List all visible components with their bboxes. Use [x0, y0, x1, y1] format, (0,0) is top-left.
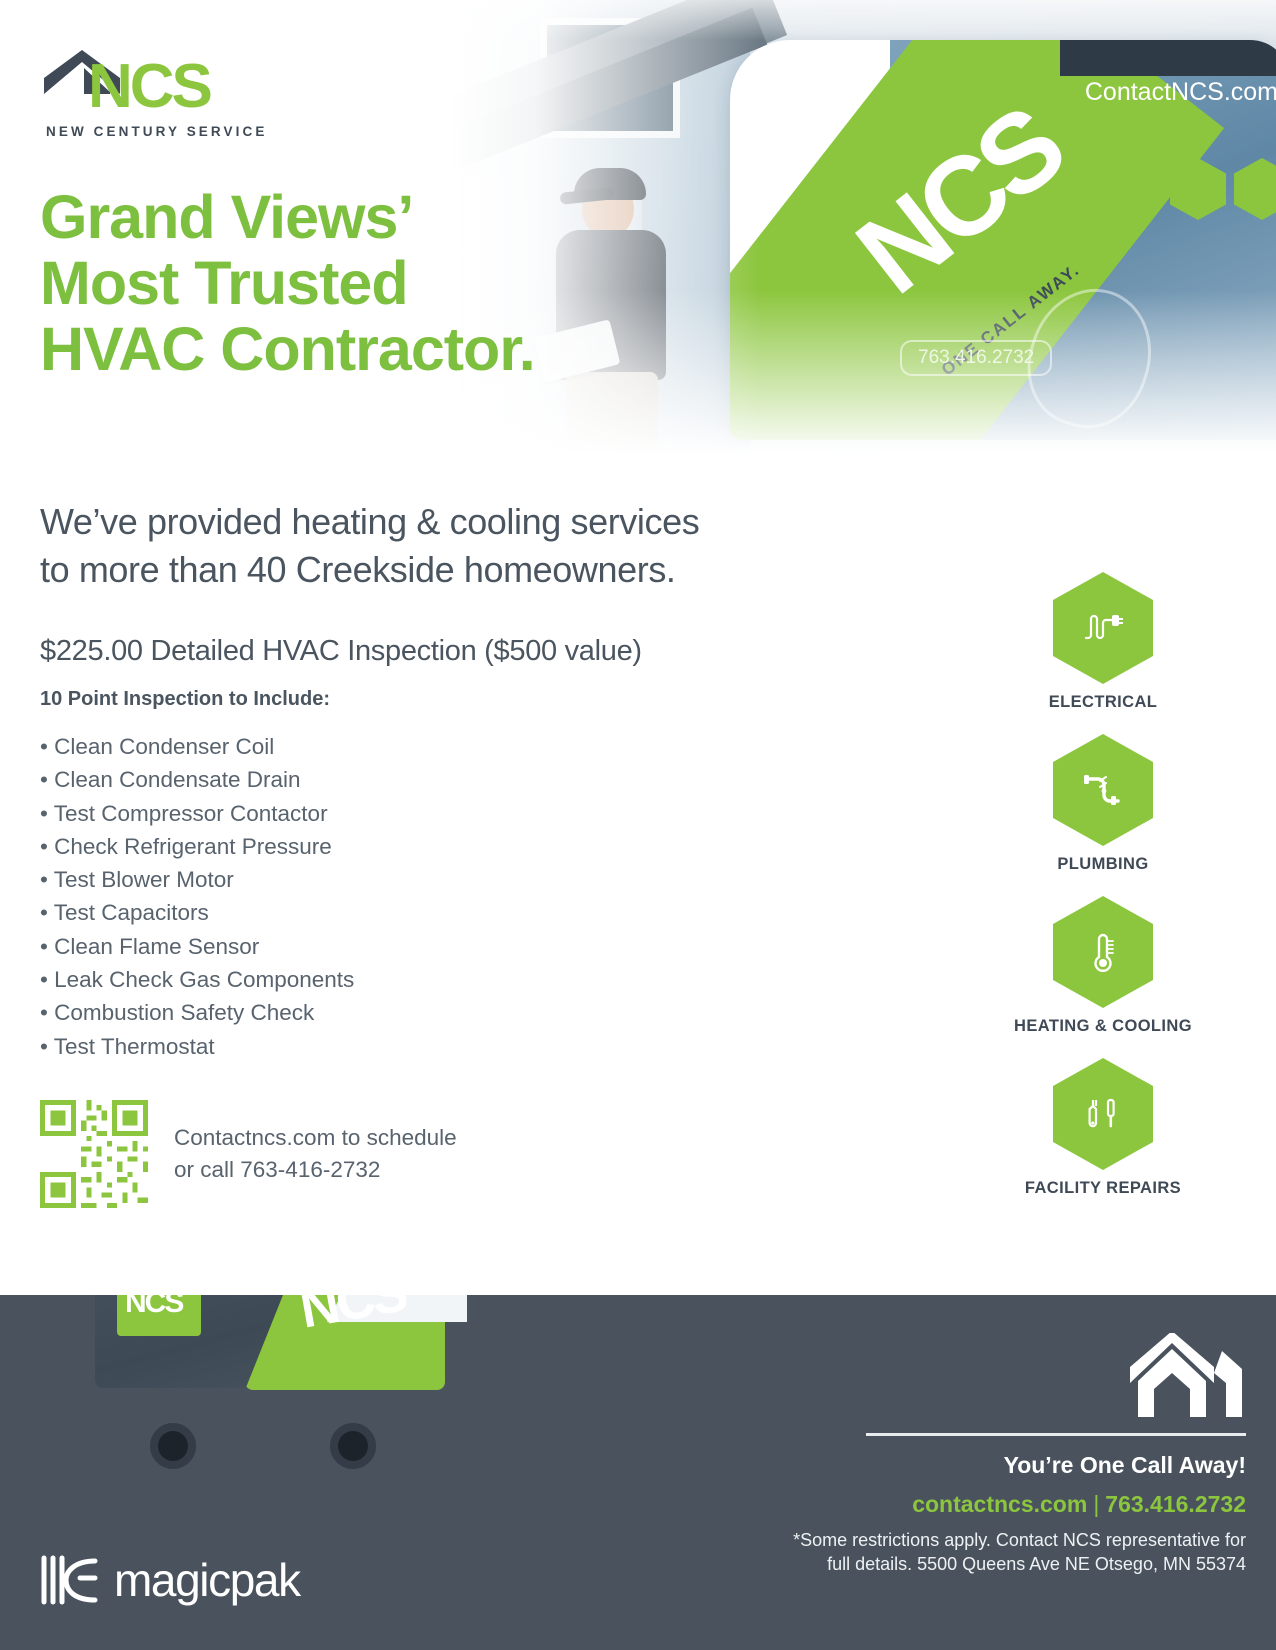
magicpak-wordmark: magicpak: [114, 1553, 300, 1607]
footer-divider: [866, 1433, 1246, 1436]
list-item: • Clean Condensate Drain: [40, 763, 560, 796]
disclaimer-line-2: full details. 5500 Queens Ave NE Otsego,…: [646, 1552, 1246, 1576]
magicpak-logo: magicpak: [38, 1552, 300, 1608]
list-item: • Test Thermostat: [40, 1030, 560, 1063]
headline-line-2: Most Trusted: [40, 251, 740, 317]
list-item: • Test Compressor Contactor: [40, 797, 560, 830]
headline-line-1: Grand Views’: [40, 185, 740, 251]
cta-block: Contactncs.com to schedule or call 763-4…: [40, 1100, 457, 1208]
list-item: • Clean Condenser Coil: [40, 730, 560, 763]
qr-code[interactable]: [40, 1100, 148, 1208]
page-footer: NCS NCS magicpak You’re One Call Away! c…: [0, 1295, 1276, 1650]
van-heating-hex: [1234, 158, 1276, 220]
ncs-logo: NCS NEW CENTURY SERVICE: [40, 48, 270, 139]
heating-cooling-hexagon: [1053, 896, 1153, 1008]
footer-van-wheel: [330, 1423, 376, 1469]
list-item: • Clean Flame Sensor: [40, 930, 560, 963]
page-headline: Grand Views’ Most Trusted HVAC Contracto…: [40, 185, 740, 383]
electrical-hexagon: [1053, 572, 1153, 684]
list-item: • Leak Check Gas Components: [40, 963, 560, 996]
footer-tagline: You’re One Call Away!: [646, 1452, 1246, 1479]
van-plumbing-hex: PLUMBING: [1170, 158, 1226, 220]
logo-wordmark: NCS: [88, 56, 210, 118]
inspection-list-title: 10 Point Inspection to Include:: [40, 688, 330, 711]
van-website: ContactNCS.com: [1085, 78, 1276, 107]
footer-contact-line: contactncs.com|763.416.2732: [646, 1491, 1246, 1518]
footer-van-wheel: [150, 1423, 196, 1469]
plumbing-hexagon: [1053, 734, 1153, 846]
service-electrical: ELECTRICAL: [988, 572, 1218, 712]
thermometer-icon: [1078, 927, 1128, 977]
magicpak-mark-icon: [38, 1552, 100, 1608]
list-item: • Check Refrigerant Pressure: [40, 830, 560, 863]
offer-headline: $225.00 Detailed HVAC Inspection ($500 v…: [40, 635, 642, 668]
service-plumbing: PLUMBING: [988, 734, 1218, 874]
list-item: • Test Capacitors: [40, 896, 560, 929]
van-electrical-hex: ELECTRICAL: [1106, 158, 1162, 220]
plug-cord-icon: [1078, 603, 1128, 653]
footer-website-link[interactable]: contactncs.com: [912, 1491, 1087, 1517]
subhead-line-1: We’ve provided heating & cooling service…: [40, 498, 930, 546]
van-service-icons: ELECTRICAL PLUMBING: [1106, 158, 1276, 220]
headline-line-3: HVAC Contractor.: [40, 317, 740, 383]
service-facility-repairs: FACILITY REPAIRS: [988, 1058, 1218, 1198]
van-roof-rack: [1060, 40, 1276, 76]
list-item: • Test Blower Motor: [40, 863, 560, 896]
list-item: • Combustion Safety Check: [40, 996, 560, 1029]
cta-text: Contactncs.com to schedule or call 763-4…: [174, 1122, 457, 1186]
service-icons-column: ELECTRICAL PLUMBING HEATING & COOLING: [988, 572, 1218, 1220]
wrench-screwdriver-icon: [1078, 1089, 1128, 1139]
cta-line-2: or call 763-416-2732: [174, 1154, 457, 1186]
subhead-line-2: to more than 40 Creekside homeowners.: [40, 546, 930, 594]
footer-contact-block: You’re One Call Away! contactncs.com|763…: [646, 1333, 1246, 1577]
inspection-list: • Clean Condenser Coil • Clean Condensat…: [40, 730, 560, 1063]
cta-line-1: Contactncs.com to schedule: [174, 1122, 457, 1154]
pipe-icon: [1078, 765, 1128, 815]
service-label: FACILITY REPAIRS: [988, 1179, 1218, 1198]
service-heating-cooling: HEATING & COOLING: [988, 896, 1218, 1036]
service-label: HEATING & COOLING: [988, 1017, 1218, 1036]
footer-phone-link[interactable]: 763.416.2732: [1105, 1491, 1246, 1517]
service-label: PLUMBING: [988, 855, 1218, 874]
page-subheadline: We’ve provided heating & cooling service…: [40, 498, 930, 593]
footer-disclaimer: *Some restrictions apply. Contact NCS re…: [646, 1528, 1246, 1577]
footer-separator: |: [1093, 1491, 1099, 1517]
service-label: ELECTRICAL: [988, 693, 1218, 712]
ncs-house-icon: [1126, 1333, 1246, 1419]
footer-van-image: NCS NCS: [95, 1295, 485, 1455]
footer-van-rear-logo: NCS: [125, 1295, 182, 1320]
logo-tagline: NEW CENTURY SERVICE: [46, 124, 270, 139]
disclaimer-line-1: *Some restrictions apply. Contact NCS re…: [646, 1528, 1246, 1552]
facility-repairs-hexagon: [1053, 1058, 1153, 1170]
